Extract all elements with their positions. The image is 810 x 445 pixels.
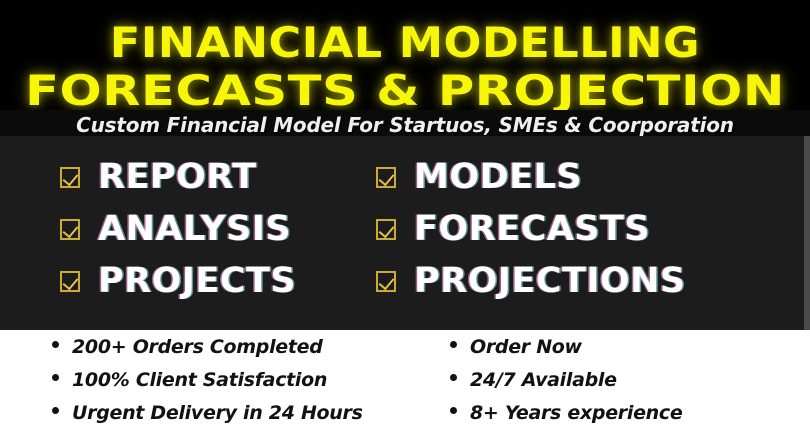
bullet-icon <box>450 407 457 414</box>
checkbox-checked-icon[interactable] <box>60 219 80 240</box>
checkbox-checked-icon[interactable] <box>60 271 80 292</box>
bullet-icon <box>52 374 59 381</box>
features-right-column: MODELS FORECASTS PROJECTIONS <box>376 136 686 306</box>
feature-item-report[interactable]: REPORT <box>60 152 296 202</box>
benefits-left-column: 200+ Orders Completed 100% Client Satisf… <box>52 338 363 437</box>
benefit-item-years-experience: 8+ Years experience <box>450 404 682 437</box>
benefit-item-order-now[interactable]: Order Now <box>450 338 682 371</box>
bullet-icon <box>52 341 59 348</box>
benefit-label: 8+ Years experience <box>470 404 682 423</box>
benefit-item-orders-completed: 200+ Orders Completed <box>52 338 363 371</box>
bullet-icon <box>52 407 59 414</box>
benefit-label: Urgent Delivery in 24 Hours <box>72 404 363 423</box>
feature-item-projects[interactable]: PROJECTS <box>60 256 296 306</box>
feature-item-forecasts[interactable]: FORECASTS <box>376 204 686 254</box>
feature-item-projections[interactable]: PROJECTIONS <box>376 256 686 306</box>
feature-label: FORECASTS <box>414 212 650 247</box>
benefit-label: 24/7 Available <box>470 371 617 390</box>
feature-item-analysis[interactable]: ANALYSIS <box>60 204 296 254</box>
feature-label: ANALYSIS <box>98 212 291 247</box>
feature-label: PROJECTIONS <box>414 264 686 299</box>
benefit-label: Order Now <box>470 338 582 357</box>
checkbox-checked-icon[interactable] <box>376 219 396 240</box>
feature-label: MODELS <box>414 160 582 195</box>
bullet-icon <box>450 374 457 381</box>
promo-banner: FINANCIAL MODELLING FORECASTS & PROJECTI… <box>0 0 810 445</box>
benefits-section: 200+ Orders Completed 100% Client Satisf… <box>0 330 810 445</box>
benefit-label: 100% Client Satisfaction <box>72 371 327 390</box>
feature-label: PROJECTS <box>98 264 296 299</box>
headline-line-1: FINANCIAL MODELLING <box>0 22 810 64</box>
benefits-right-column: Order Now 24/7 Available 8+ Years experi… <box>450 338 682 437</box>
bullet-icon <box>450 341 457 348</box>
headline-line-2: FORECASTS & PROJECTION <box>0 70 810 112</box>
benefit-item-client-satisfaction: 100% Client Satisfaction <box>52 371 363 404</box>
checkbox-checked-icon[interactable] <box>376 167 396 188</box>
benefit-label: 200+ Orders Completed <box>72 338 323 357</box>
subtitle-text: Custom Financial Model For Startuos, SME… <box>0 113 810 137</box>
feature-item-models[interactable]: MODELS <box>376 152 686 202</box>
features-section: REPORT ANALYSIS PROJECTS MODELS FORECAST… <box>0 136 810 330</box>
feature-label: REPORT <box>98 160 257 195</box>
checkbox-checked-icon[interactable] <box>376 271 396 292</box>
checkbox-checked-icon[interactable] <box>60 167 80 188</box>
benefit-item-urgent-delivery: Urgent Delivery in 24 Hours <box>52 404 363 437</box>
benefit-item-availability: 24/7 Available <box>450 371 682 404</box>
features-left-column: REPORT ANALYSIS PROJECTS <box>60 136 296 306</box>
